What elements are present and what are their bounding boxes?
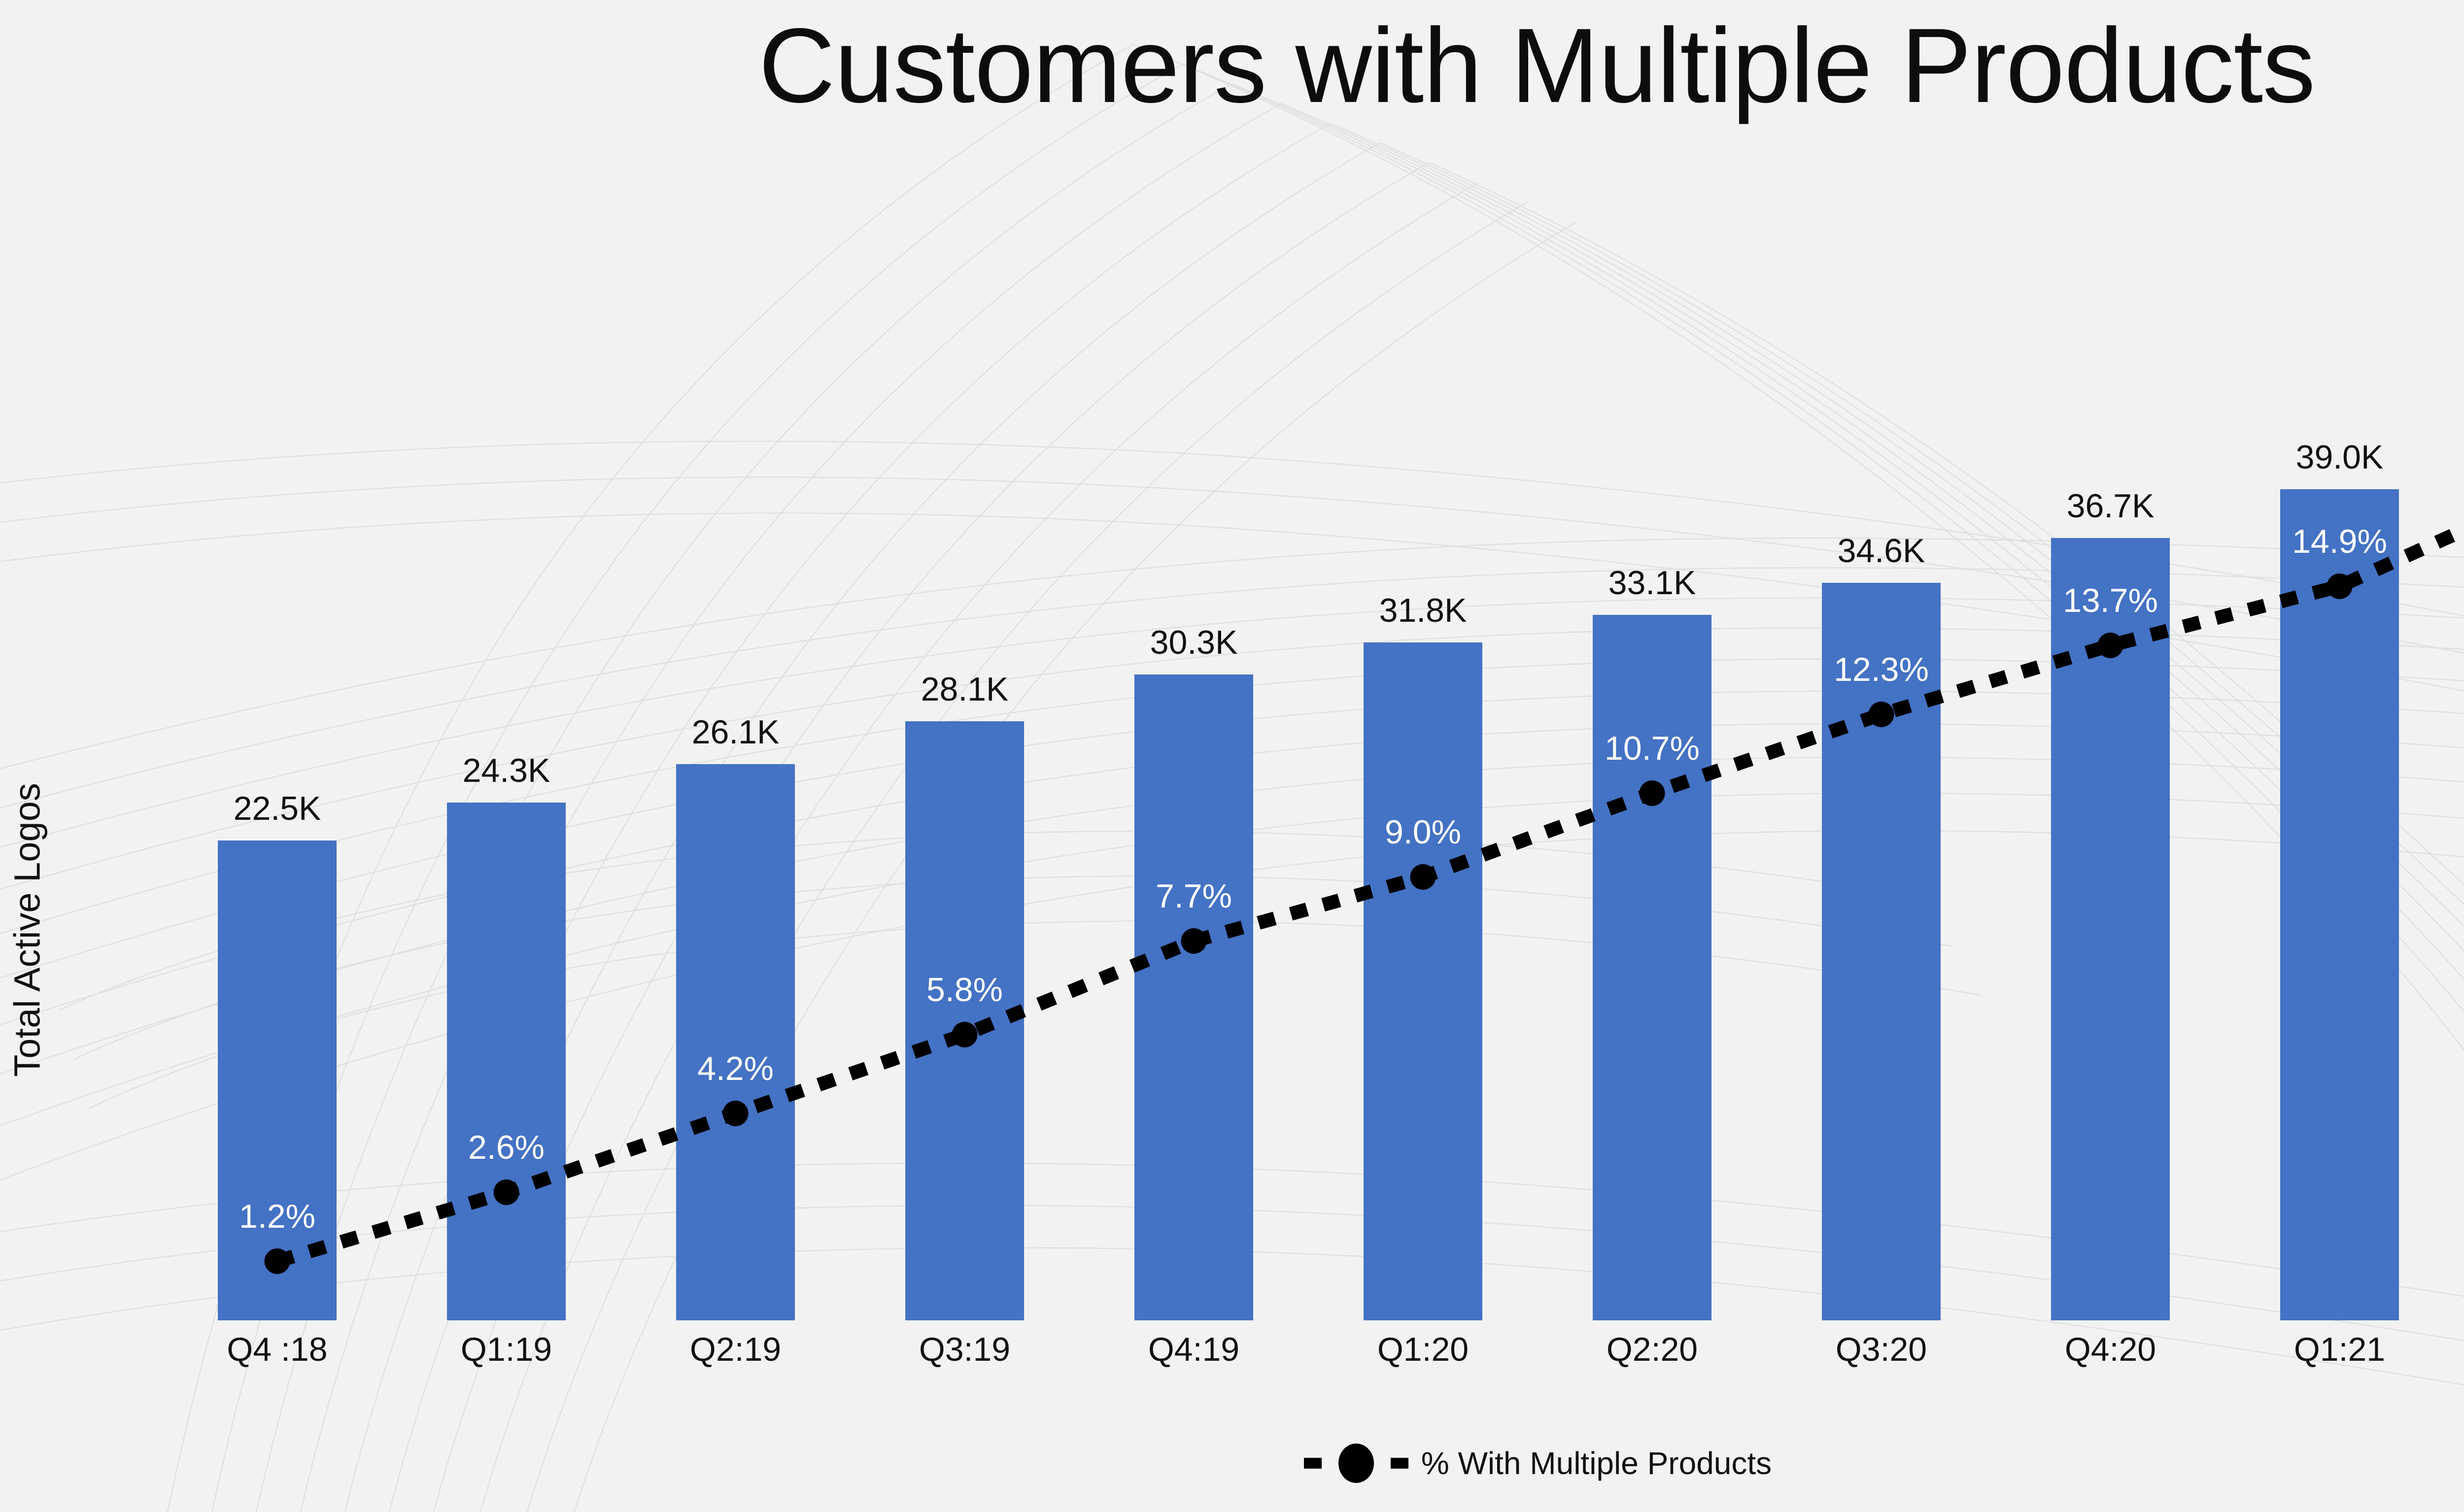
x-tick-label: Q1:19: [461, 1330, 552, 1369]
percent-value-label: 1.2%: [239, 1197, 315, 1236]
line-data-point-marker[interactable]: [2098, 633, 2123, 658]
line-data-point-marker[interactable]: [2327, 573, 2353, 599]
line-data-point-marker[interactable]: [1181, 928, 1207, 954]
percent-value-label: 10.7%: [1605, 729, 1700, 768]
line-data-point-marker[interactable]: [1640, 780, 1665, 806]
chart-legend: % With Multiple Products: [0, 1444, 2464, 1483]
percent-trend-line: [277, 370, 2464, 1261]
percent-value-label: 4.2%: [697, 1049, 774, 1088]
x-tick-label: Q2:20: [1607, 1330, 1698, 1369]
plot-area: 22.5K24.3K26.1K28.1K30.3K31.8K33.1K34.6K…: [163, 212, 2464, 1320]
line-data-point-marker[interactable]: [723, 1101, 749, 1126]
x-axis-tick-labels: Q4 :18Q1:19Q2:19Q3:19Q4:19Q1:20Q2:20Q3:2…: [163, 1330, 2464, 1384]
percent-value-label: 7.7%: [1156, 877, 1232, 915]
line-data-point-marker[interactable]: [265, 1248, 290, 1274]
x-tick-label: Q3:19: [919, 1330, 1010, 1369]
x-tick-label: Q1:20: [1377, 1330, 1469, 1369]
percent-value-label: 14.9%: [2292, 522, 2387, 561]
x-tick-label: Q1:21: [2294, 1330, 2385, 1369]
x-tick-label: Q4 :18: [227, 1330, 327, 1369]
x-tick-label: Q3:20: [1836, 1330, 1927, 1369]
x-tick-label: Q4:19: [1148, 1330, 1239, 1369]
chart-title: Customers with Multiple Products: [0, 10, 2464, 121]
percent-value-label: 2.6%: [468, 1128, 545, 1167]
line-data-point-marker[interactable]: [494, 1179, 519, 1205]
line-data-point-marker[interactable]: [1410, 864, 1436, 890]
y-axis-left-title: Total Active Logos: [6, 733, 48, 1127]
dash-dot-dash-icon: [1302, 1444, 1410, 1483]
legend-label: % With Multiple Products: [1421, 1445, 1772, 1481]
percent-value-label: 9.0%: [1385, 813, 1461, 851]
line-data-point-marker[interactable]: [1869, 702, 1894, 727]
legend-item-percent-with-multiple-products[interactable]: % With Multiple Products: [1302, 1444, 1772, 1483]
percent-value-label: 12.3%: [1834, 650, 1929, 689]
x-tick-label: Q4:20: [2065, 1330, 2156, 1369]
percent-value-label: 5.8%: [926, 971, 1003, 1009]
percent-value-label: 13.7%: [2063, 581, 2158, 620]
chart-container: Customers with Multiple Products Total A…: [0, 0, 2464, 1512]
x-tick-label: Q2:19: [690, 1330, 781, 1369]
line-data-point-marker[interactable]: [952, 1022, 978, 1047]
